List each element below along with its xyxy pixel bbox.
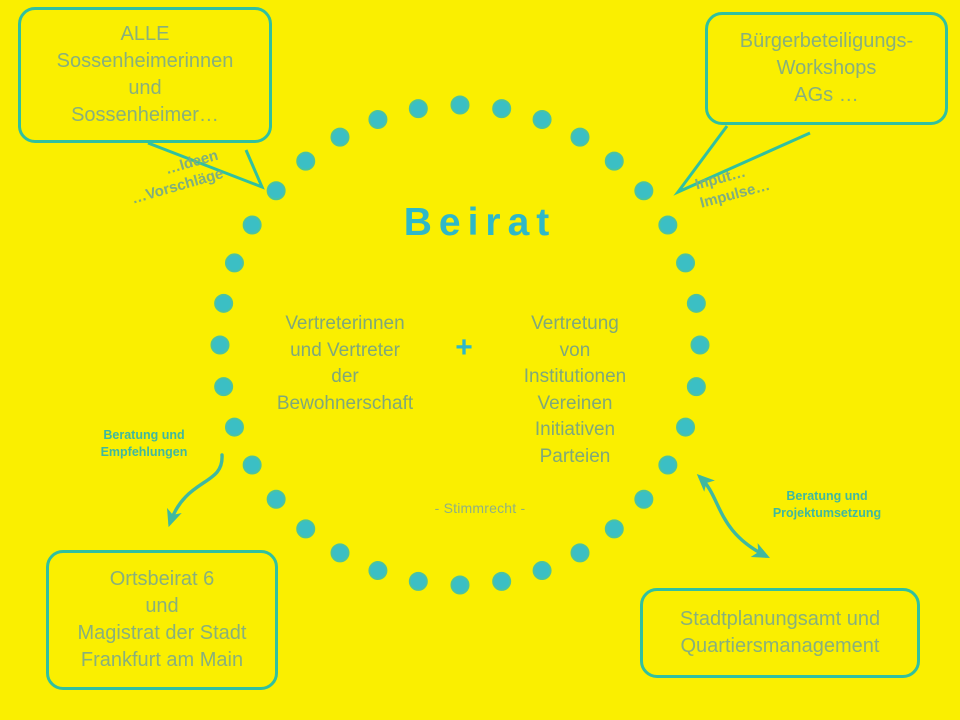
bubble-right-line-2: Workshops <box>740 55 913 82</box>
right-col-line-1: Vertretung <box>480 311 670 338</box>
center-left-column: Vertreterinnen und Vertreter der Bewohne… <box>250 311 440 417</box>
bubble-left-line-3: und <box>57 75 234 102</box>
speech-bubble-buergerbeteiligung: Bürgerbeteiligungs- Workshops AGs … <box>705 12 948 125</box>
left-col-line-1: Vertreterinnen <box>250 311 440 338</box>
speech-bubble-alle-sossenheimer: ALLE Sossenheimerinnen und Sossenheimer… <box>18 7 272 143</box>
label-beratung-empfehlungen: Beratung und Empfehlungen <box>78 427 210 461</box>
bubble-left-line-4: Sossenheimer… <box>57 102 234 129</box>
bubble-right-line-1: Bürgerbeteiligungs- <box>740 28 913 55</box>
right-col-line-2: von <box>480 338 670 365</box>
plus-icon: + <box>444 333 484 363</box>
label-right-line-2: Projektumsetzung <box>742 505 912 522</box>
center-title: Beirat <box>0 203 960 242</box>
box-stadtplanungsamt-quartiersmanagement: Stadtplanungsamt und Quartiersmanagement <box>640 588 920 678</box>
box-bl-line-3: Magistrat der Stadt <box>78 620 247 647</box>
left-col-line-2: und Vertreter <box>250 338 440 365</box>
right-col-line-4: Vereinen <box>480 391 670 418</box>
bubble-left-line-1: ALLE <box>57 21 234 48</box>
box-br-line-1: Stadtplanungsamt und <box>680 606 880 633</box>
right-col-line-5: Initiativen <box>480 417 670 444</box>
box-bl-line-1: Ortsbeirat 6 <box>78 566 247 593</box>
box-bl-line-4: Frankfurt am Main <box>78 647 247 674</box>
bubble-left-line-2: Sossenheimerinnen <box>57 48 234 75</box>
bubble-right-line-3: AGs … <box>740 82 913 109</box>
box-ortsbeirat-magistrat: Ortsbeirat 6 und Magistrat der Stadt Fra… <box>46 550 278 690</box>
label-right-line-1: Beratung und <box>742 488 912 505</box>
right-col-line-6: Parteien <box>480 444 670 471</box>
diagram-canvas: Beirat Vertreterinnen und Vertreter der … <box>0 0 960 720</box>
center-right-column: Vertretung von Institutionen Vereinen In… <box>480 311 670 470</box>
label-left-line-2: Empfehlungen <box>78 444 210 461</box>
label-beratung-projektumsetzung: Beratung und Projektumsetzung <box>742 488 912 522</box>
box-bl-line-2: und <box>78 593 247 620</box>
right-col-line-3: Institutionen <box>480 364 670 391</box>
left-col-line-4: Bewohnerschaft <box>250 391 440 418</box>
box-br-line-2: Quartiersmanagement <box>680 633 880 660</box>
label-left-line-1: Beratung und <box>78 427 210 444</box>
left-col-line-3: der <box>250 364 440 391</box>
